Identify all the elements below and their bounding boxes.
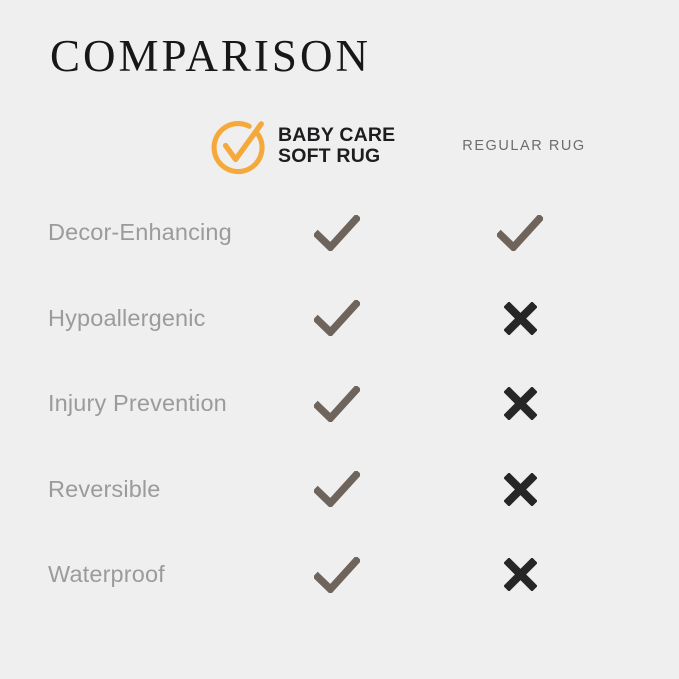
check-icon xyxy=(314,300,360,336)
cell-baby-care xyxy=(292,361,382,447)
brand-column-header: BABY CARE SOFT RUG xyxy=(208,108,395,184)
cell-baby-care xyxy=(292,447,382,533)
cross-icon xyxy=(504,473,537,506)
check-icon xyxy=(314,471,360,507)
table-row: Reversible xyxy=(0,447,679,533)
comparison-rows: Decor-Enhancing Hypoallergenic xyxy=(0,190,679,618)
competitor-column-header: REGULAR RUG xyxy=(450,108,598,184)
cell-regular xyxy=(475,361,565,447)
comparison-page: COMPARISON BABY CARE SOFT RUG REGULAR RU… xyxy=(0,0,679,679)
cell-baby-care xyxy=(292,532,382,618)
cell-regular xyxy=(475,447,565,533)
cell-baby-care xyxy=(292,276,382,362)
page-title: COMPARISON xyxy=(50,31,371,83)
check-icon xyxy=(314,215,360,251)
cell-regular xyxy=(475,190,565,276)
cell-regular xyxy=(475,276,565,362)
table-row: Waterproof xyxy=(0,532,679,618)
brand-name-line2: SOFT RUG xyxy=(278,146,395,167)
table-row: Injury Prevention xyxy=(0,361,679,447)
check-icon xyxy=(497,215,543,251)
cell-baby-care xyxy=(292,190,382,276)
brand-name-line1: BABY CARE xyxy=(278,124,395,146)
feature-label: Hypoallergenic xyxy=(48,276,206,362)
cross-icon xyxy=(504,302,537,335)
check-icon xyxy=(314,557,360,593)
feature-label: Injury Prevention xyxy=(48,361,227,447)
comparison-header: BABY CARE SOFT RUG REGULAR RUG xyxy=(0,108,679,184)
feature-label: Decor-Enhancing xyxy=(48,190,232,276)
feature-label: Waterproof xyxy=(48,532,165,618)
cross-icon xyxy=(504,387,537,420)
cross-icon xyxy=(504,558,537,591)
table-row: Hypoallergenic xyxy=(0,276,679,362)
cell-regular xyxy=(475,532,565,618)
table-row: Decor-Enhancing xyxy=(0,190,679,276)
brand-name: BABY CARE SOFT RUG xyxy=(278,125,395,166)
circle-check-icon xyxy=(208,115,270,177)
check-icon xyxy=(314,386,360,422)
feature-label: Reversible xyxy=(48,447,161,533)
